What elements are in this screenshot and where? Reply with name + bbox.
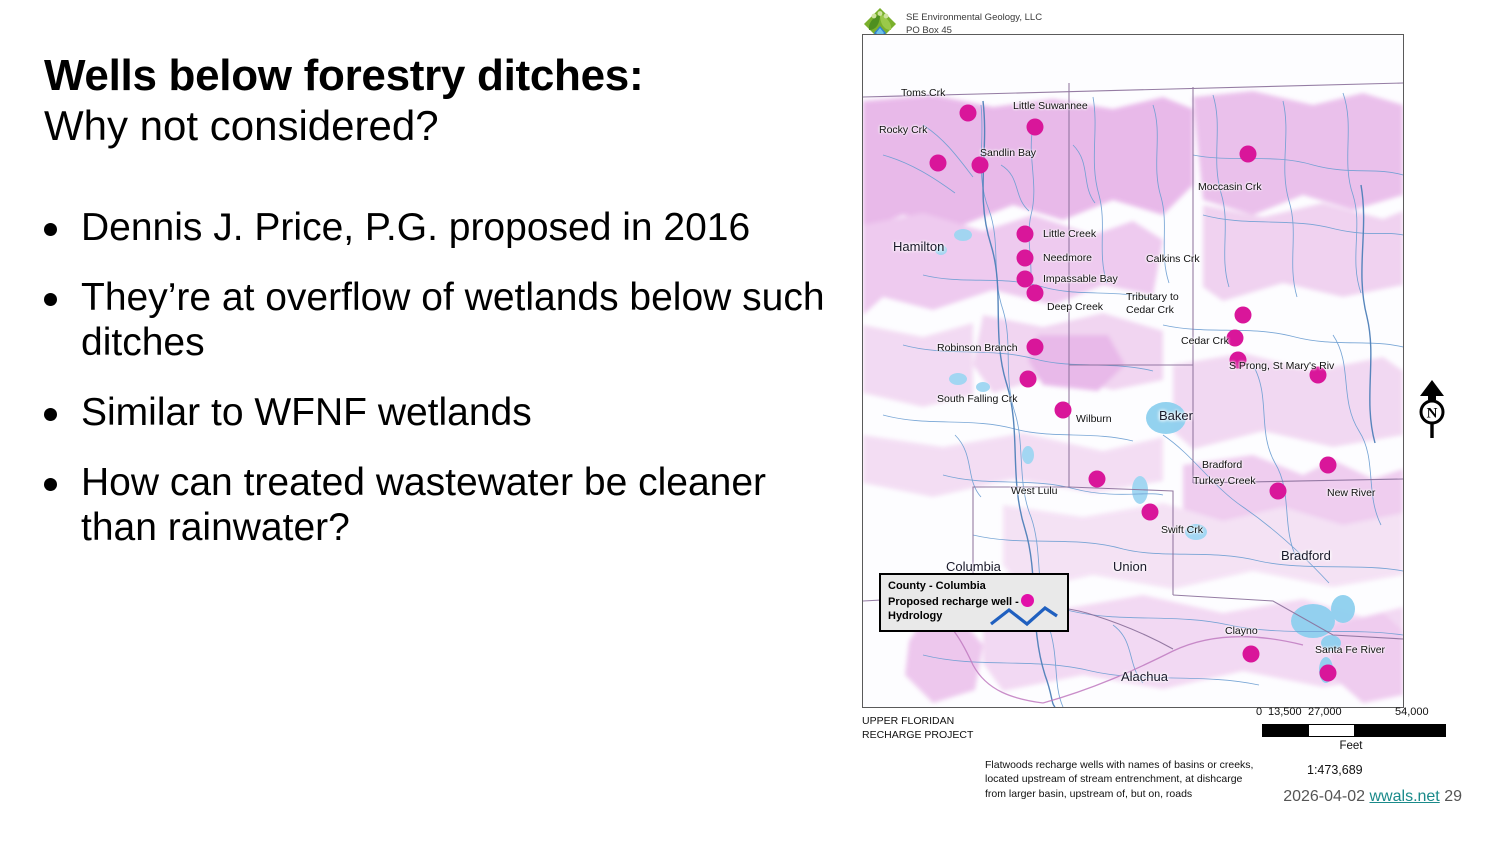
caption-line-3: from larger basin, upstream of, but on, …	[985, 787, 1253, 801]
well-marker[interactable]	[1027, 119, 1044, 136]
bullet-dot-icon	[44, 408, 57, 421]
well-marker[interactable]	[960, 105, 977, 122]
scale-tick-54000: 54,000	[1395, 706, 1429, 718]
well-marker[interactable]	[1027, 339, 1044, 356]
well-marker[interactable]	[1235, 307, 1252, 324]
list-item: Similar to WFNF wetlands	[44, 390, 844, 436]
county-label-baker: Baker	[1159, 408, 1193, 423]
hydrology-line-icon	[989, 606, 1059, 628]
project-name-line1: UPPER FLORIDAN	[862, 714, 973, 728]
map-label-clayno: Clayno	[1225, 625, 1258, 637]
well-marker[interactable]	[1020, 371, 1037, 388]
legend-county-line: County - Columbia	[888, 580, 1060, 594]
well-marker[interactable]	[1320, 457, 1337, 474]
page-title: Wells below forestry ditches: Why not co…	[44, 52, 834, 149]
map-label-turkey-creek: Turkey Creek	[1193, 475, 1256, 487]
footer-link[interactable]: wwals.net	[1370, 788, 1440, 805]
bullet-dot-icon	[44, 223, 57, 236]
map-label-cedar-crk: Cedar Crk	[1181, 335, 1229, 347]
caption-line-2: located upstream of stream entrenchment,…	[985, 772, 1253, 786]
scale-unit-label: Feet	[1256, 740, 1446, 752]
map-label-santa-fe-river: Santa Fe River	[1315, 644, 1385, 656]
scale-seg-4	[1400, 725, 1446, 736]
bullet-text: They’re at overflow of wetlands below su…	[81, 275, 844, 366]
map-label-impassable-bay: Impassable Bay	[1043, 273, 1118, 285]
scale-bar	[1262, 724, 1446, 737]
scale-seg-1	[1263, 725, 1309, 736]
bullet-text: Dennis J. Price, P.G. proposed in 2016	[81, 205, 844, 251]
title-bold-line: Wells below forestry ditches:	[44, 52, 834, 100]
bullet-dot-icon	[44, 478, 57, 491]
scale-tick-labels: 0 13,500 27,000 54,000	[1256, 706, 1456, 722]
map-label-toms-crk: Toms Crk	[901, 87, 945, 99]
county-label-bradford: Bradford	[1281, 548, 1331, 563]
map-label-west-lulu: West Lulu	[1011, 485, 1058, 497]
map-label-swift-crk: Swift Crk	[1161, 524, 1203, 536]
map-label-moccasin-crk: Moccasin Crk	[1198, 181, 1262, 193]
well-marker[interactable]	[1240, 146, 1257, 163]
list-item: Dennis J. Price, P.G. proposed in 2016	[44, 205, 844, 251]
well-marker[interactable]	[930, 155, 947, 172]
project-name-line2: RECHARGE PROJECT	[862, 728, 973, 742]
map-label-new-river: New River	[1327, 487, 1375, 499]
map-label-little-creek: Little Creek	[1043, 228, 1096, 240]
county-label-columbia: Columbia	[946, 559, 1001, 574]
county-label-alachua: Alachua	[1121, 669, 1168, 684]
footer-page-number: 29	[1444, 788, 1462, 805]
map-frame[interactable]: Toms Crk Little Suwannee Rocky Crk Sandl…	[862, 34, 1404, 708]
north-arrow-icon: N	[1410, 378, 1454, 440]
map-label-tributary-to: Tributary to	[1126, 291, 1179, 303]
well-marker[interactable]	[1243, 646, 1260, 663]
well-marker[interactable]	[1017, 250, 1034, 267]
caption-line-1: Flatwoods recharge wells with names of b…	[985, 758, 1253, 772]
map-label-wilburn: Wilburn	[1076, 413, 1112, 425]
scale-seg-3	[1354, 725, 1400, 736]
map-label-sandlin-bay: Sandlin Bay	[980, 147, 1036, 159]
map-label-south-falling-crk: South Falling Crk	[937, 393, 1018, 405]
map-caption: Flatwoods recharge wells with names of b…	[985, 758, 1253, 801]
bullet-text: How can treated wastewater be cleaner th…	[81, 460, 844, 551]
well-marker[interactable]	[1320, 665, 1337, 682]
bullet-list: Dennis J. Price, P.G. proposed in 2016 T…	[44, 205, 844, 575]
slide-footer: 2026-04-02 wwals.net 29	[1283, 788, 1462, 806]
bullet-dot-icon	[44, 293, 57, 306]
company-name: SE Environmental Geology, LLC	[906, 12, 1042, 25]
well-marker[interactable]	[1270, 483, 1287, 500]
map-label-little-suwannee: Little Suwannee	[1013, 100, 1088, 112]
well-marker[interactable]	[972, 157, 989, 174]
well-marker[interactable]	[1142, 504, 1159, 521]
county-label-hamilton: Hamilton	[893, 239, 944, 254]
scale-tick-27000: 27,000	[1308, 706, 1342, 718]
title-subline: Why not considered?	[44, 102, 834, 149]
map-label-rocky-crk: Rocky Crk	[879, 124, 927, 136]
north-letter: N	[1427, 406, 1438, 422]
scale-tick-13500: 13,500	[1268, 706, 1302, 718]
county-label-union: Union	[1113, 559, 1147, 574]
map-label-tributary-cedar: Cedar Crk	[1126, 304, 1174, 316]
map-label-calkins-crk: Calkins Crk	[1146, 253, 1200, 265]
well-marker[interactable]	[1227, 330, 1244, 347]
scale-seg-2	[1309, 725, 1355, 736]
well-marker[interactable]	[1027, 285, 1044, 302]
bullet-text: Similar to WFNF wetlands	[81, 390, 844, 436]
map-label-deep-creek: Deep Creek	[1047, 301, 1103, 313]
footer-date: 2026-04-02	[1283, 788, 1365, 805]
map-label-bradford-basin: Bradford	[1202, 459, 1242, 471]
map-label-s-prong-st-marys: S Prong, St Mary's Riv	[1229, 360, 1334, 372]
scale-tick-0: 0	[1256, 706, 1262, 718]
list-item: How can treated wastewater be cleaner th…	[44, 460, 844, 551]
map-legend[interactable]: County - Columbia Proposed recharge well…	[879, 573, 1069, 632]
project-name: UPPER FLORIDAN RECHARGE PROJECT	[862, 714, 973, 742]
map-figure: SE Environmental Geology, LLC PO Box 45 …	[852, 0, 1500, 844]
map-label-robinson-branch: Robinson Branch	[937, 342, 1018, 354]
well-marker[interactable]	[1017, 226, 1034, 243]
well-marker[interactable]	[1055, 402, 1072, 419]
map-scale-ratio: 1:473,689	[1307, 763, 1363, 777]
slide-text-column: Wells below forestry ditches: Why not co…	[0, 0, 850, 844]
well-marker[interactable]	[1089, 471, 1106, 488]
list-item: They’re at overflow of wetlands below su…	[44, 275, 844, 366]
scale-bar-group: 0 13,500 27,000 54,000 Feet	[1256, 706, 1456, 752]
map-label-needmore: Needmore	[1043, 252, 1092, 264]
